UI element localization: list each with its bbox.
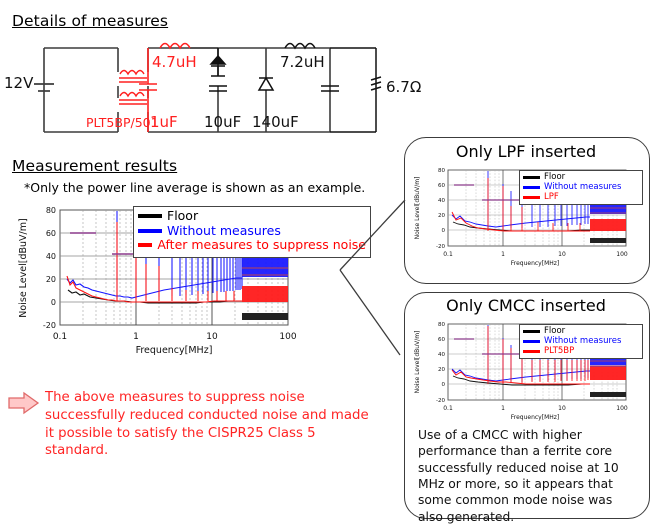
- diode-symbol: [259, 78, 273, 90]
- svg-text:0.1: 0.1: [443, 405, 453, 412]
- svg-text:80: 80: [438, 168, 445, 174]
- cmcc-legend-label-plt5bp: PLT5BP: [544, 347, 574, 356]
- legend-label-without-measures: Without measures: [167, 225, 281, 238]
- svg-text:20: 20: [46, 275, 56, 284]
- lpf-chart-xlabel: Frequency[MHz]: [511, 260, 560, 267]
- conclusion-arrow-icon: [8, 392, 40, 414]
- cmcc-legend-label-floor: Floor: [544, 327, 565, 336]
- svg-text:80: 80: [46, 206, 56, 215]
- svg-text:100: 100: [616, 251, 628, 258]
- svg-text:60: 60: [438, 337, 445, 343]
- lpf-legend-swatch-floor-icon: [523, 176, 540, 179]
- legend-swatch-without-measures-icon: [138, 229, 162, 233]
- legend-swatch-after-measures-icon: [138, 243, 152, 247]
- svg-text:100: 100: [616, 405, 628, 412]
- svg-text:60: 60: [46, 229, 56, 238]
- svg-text:0: 0: [51, 298, 56, 307]
- svg-text:-20: -20: [436, 398, 445, 404]
- svg-text:20: 20: [438, 213, 445, 219]
- svg-text:0: 0: [442, 228, 446, 234]
- cmcc-legend-swatch-without-icon: [523, 340, 540, 343]
- cmcc-symbol: [119, 71, 147, 105]
- main-chart-yticks: 806040 200-20: [43, 206, 56, 330]
- svg-text:40: 40: [438, 198, 445, 204]
- legend-label-floor: Floor: [167, 210, 198, 223]
- svg-text:1: 1: [501, 251, 505, 258]
- cmcc-legend-swatch-plt5bp-icon: [523, 350, 540, 353]
- svg-text:0.1: 0.1: [53, 332, 67, 342]
- lpf-chart-ylabel: Noise Level[dBuV/m]: [414, 177, 421, 240]
- cmcc-chart-legend: Floor Without measures PLT5BP: [519, 324, 643, 359]
- svg-text:80: 80: [438, 322, 445, 328]
- svg-text:10: 10: [558, 405, 566, 412]
- svg-text:10: 10: [558, 251, 566, 258]
- cmcc-legend-swatch-floor-icon: [523, 330, 540, 333]
- lpf-legend-label-without: Without measures: [544, 183, 621, 192]
- inductor2-label: 7.2uH: [280, 53, 325, 71]
- details-of-measures-title: Details of measures: [12, 12, 168, 30]
- svg-text:1: 1: [501, 405, 505, 412]
- lpf-legend-label-lpf: LPF: [544, 193, 559, 202]
- callout-leader-lines: [300, 185, 420, 375]
- lpf-legend-label-floor: Floor: [544, 173, 565, 182]
- measurement-results-title: Measurement results: [12, 157, 177, 175]
- cap3-label: 140uF: [252, 113, 299, 131]
- svg-text:0: 0: [442, 382, 446, 388]
- main-chart-xticks: 0.11 10100: [53, 332, 297, 342]
- cmcc-chart-xlabel: Frequency[MHz]: [511, 414, 560, 421]
- switch-symbol: [211, 48, 225, 76]
- cmcc-caption: Use of a CMCC with higher performance th…: [418, 427, 634, 525]
- lpf-legend-swatch-lpf-icon: [523, 196, 540, 199]
- callout-lpf-title: Only LPF inserted: [404, 142, 648, 161]
- main-chart-ylabel: Noise Level[dBuV/m]: [18, 218, 29, 317]
- svg-text:-20: -20: [43, 321, 56, 330]
- cmcc-legend-label-without: Without measures: [544, 337, 621, 346]
- cmcc-chart-ylabel: Noise Level[dBuV/m]: [414, 331, 421, 394]
- conclusion-text: The above measures to suppress noise suc…: [45, 389, 375, 460]
- load-label: 6.7Ω: [386, 78, 421, 96]
- inductor1-label: 4.7uH: [152, 53, 197, 71]
- legend-swatch-floor-icon: [138, 214, 162, 218]
- svg-text:1: 1: [133, 332, 139, 342]
- load-resistor-symbol: [330, 48, 381, 132]
- svg-text:20: 20: [438, 367, 445, 373]
- cap2-label: 10uF: [204, 113, 241, 131]
- svg-text:40: 40: [438, 352, 445, 358]
- svg-text:40: 40: [46, 252, 56, 261]
- cap1-label: 1uF: [150, 113, 178, 131]
- callout-cmcc-title: Only CMCC inserted: [404, 296, 648, 315]
- svg-text:60: 60: [438, 183, 445, 189]
- svg-text:-20: -20: [436, 244, 445, 250]
- lpf-legend-swatch-without-icon: [523, 186, 540, 189]
- svg-text:0.1: 0.1: [443, 251, 453, 258]
- source-label: 12V: [4, 74, 34, 92]
- circuit-diagram: 12V PLT5BP/501 4.7uH 1uF 10uF: [0, 34, 400, 142]
- main-chart-xlabel: Frequency[MHz]: [136, 345, 213, 356]
- lpf-chart-legend: Floor Without measures LPF: [519, 170, 643, 205]
- svg-text:10: 10: [206, 332, 218, 342]
- svg-text:100: 100: [279, 332, 296, 342]
